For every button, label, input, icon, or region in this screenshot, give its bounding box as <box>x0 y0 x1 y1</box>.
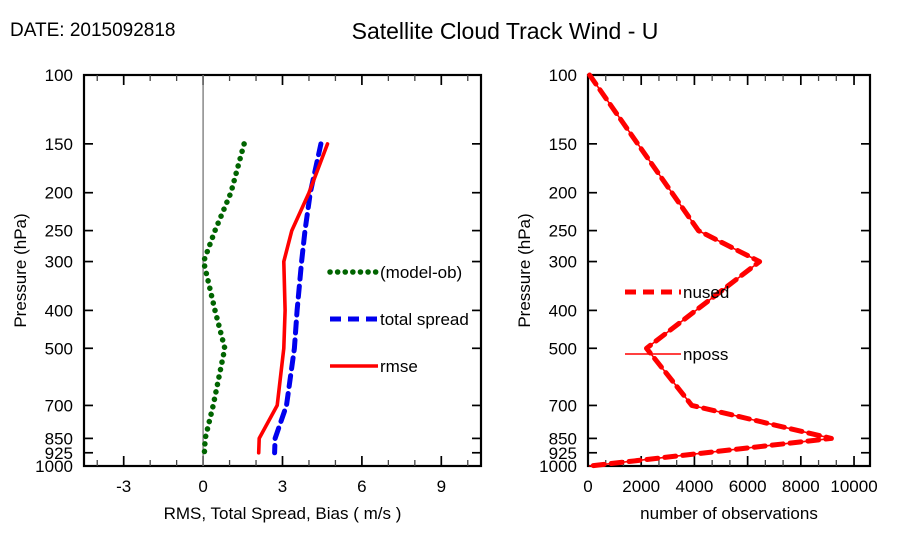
y-tick-label: 700 <box>45 396 73 415</box>
legend-label: total spread <box>380 310 469 329</box>
x-tick-label: 10000 <box>830 477 877 496</box>
x-tick-label: 8000 <box>782 477 820 496</box>
x-tick-label: 9 <box>437 477 446 496</box>
y-tick-label: 300 <box>45 253 73 272</box>
y-tick-label: 250 <box>45 222 73 241</box>
series-nused <box>590 75 832 466</box>
x-tick-label: 0 <box>198 477 207 496</box>
legend-label: rmse <box>380 357 418 376</box>
x-tick-label: 0 <box>583 477 592 496</box>
panel-left: 1001502002503004005007008509251000-30369… <box>11 66 481 523</box>
x-tick-label: 2000 <box>622 477 660 496</box>
plot-page: DATE: 2015092818 Satellite Cloud Track W… <box>0 0 900 560</box>
x-axis-label: number of observations <box>640 504 818 523</box>
y-tick-label: 250 <box>549 222 577 241</box>
y-tick-label: 150 <box>549 135 577 154</box>
legend-label: nused <box>683 283 729 302</box>
y-tick-label: 1000 <box>35 457 73 476</box>
y-tick-label: 500 <box>45 339 73 358</box>
y-tick-label: 100 <box>549 66 577 85</box>
y-tick-label: 700 <box>549 396 577 415</box>
y-tick-label: 200 <box>45 184 73 203</box>
y-tick-label: 1000 <box>539 457 577 476</box>
x-tick-label: 4000 <box>676 477 714 496</box>
series-modelob <box>204 144 245 453</box>
series-rmse <box>259 144 328 453</box>
y-tick-label: 400 <box>45 301 73 320</box>
x-axis-label: RMS, Total Spread, Bias ( m/s ) <box>164 504 402 523</box>
series-totalspread <box>275 144 321 453</box>
y-tick-label: 100 <box>45 66 73 85</box>
legend-label: nposs <box>683 345 728 364</box>
y-tick-label: 400 <box>549 301 577 320</box>
legend-label: (model-ob) <box>380 263 462 282</box>
x-tick-label: -3 <box>116 477 131 496</box>
plot-canvas: 1001502002503004005007008509251000-30369… <box>0 0 900 560</box>
x-tick-label: 6000 <box>729 477 767 496</box>
y-tick-label: 300 <box>549 253 577 272</box>
legend-statistics: (model-ob)total spreadrmse <box>330 263 469 376</box>
y-axis-label: Pressure (hPa) <box>515 213 534 327</box>
x-tick-label: 3 <box>278 477 287 496</box>
x-tick-label: 6 <box>357 477 366 496</box>
y-tick-label: 500 <box>549 339 577 358</box>
y-tick-label: 150 <box>45 135 73 154</box>
y-tick-label: 200 <box>549 184 577 203</box>
y-axis-label: Pressure (hPa) <box>11 213 30 327</box>
